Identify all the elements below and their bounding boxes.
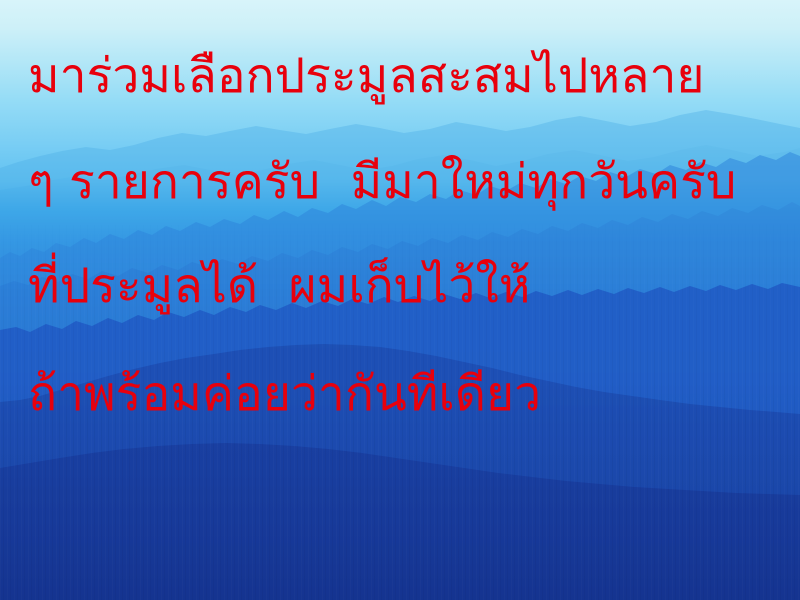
caption-line-3: ที่ประมูลได้ ผมเก็บไว้ให้ [28,262,788,310]
promotional-banner: มาร่วมเลือกประมูลสะสมไปหลาย ๆ รายการครับ… [0,0,800,600]
caption-line-2: ๆ รายการครับ มีมาใหม่ทุกวันครับ [28,158,788,206]
caption-line-1: มาร่วมเลือกประมูลสะสมไปหลาย [28,52,788,100]
caption-line-4: ถ้าพร้อมค่อยว่ากันทีเดียว [28,370,788,418]
caption-overlay: มาร่วมเลือกประมูลสะสมไปหลาย ๆ รายการครับ… [0,0,800,600]
